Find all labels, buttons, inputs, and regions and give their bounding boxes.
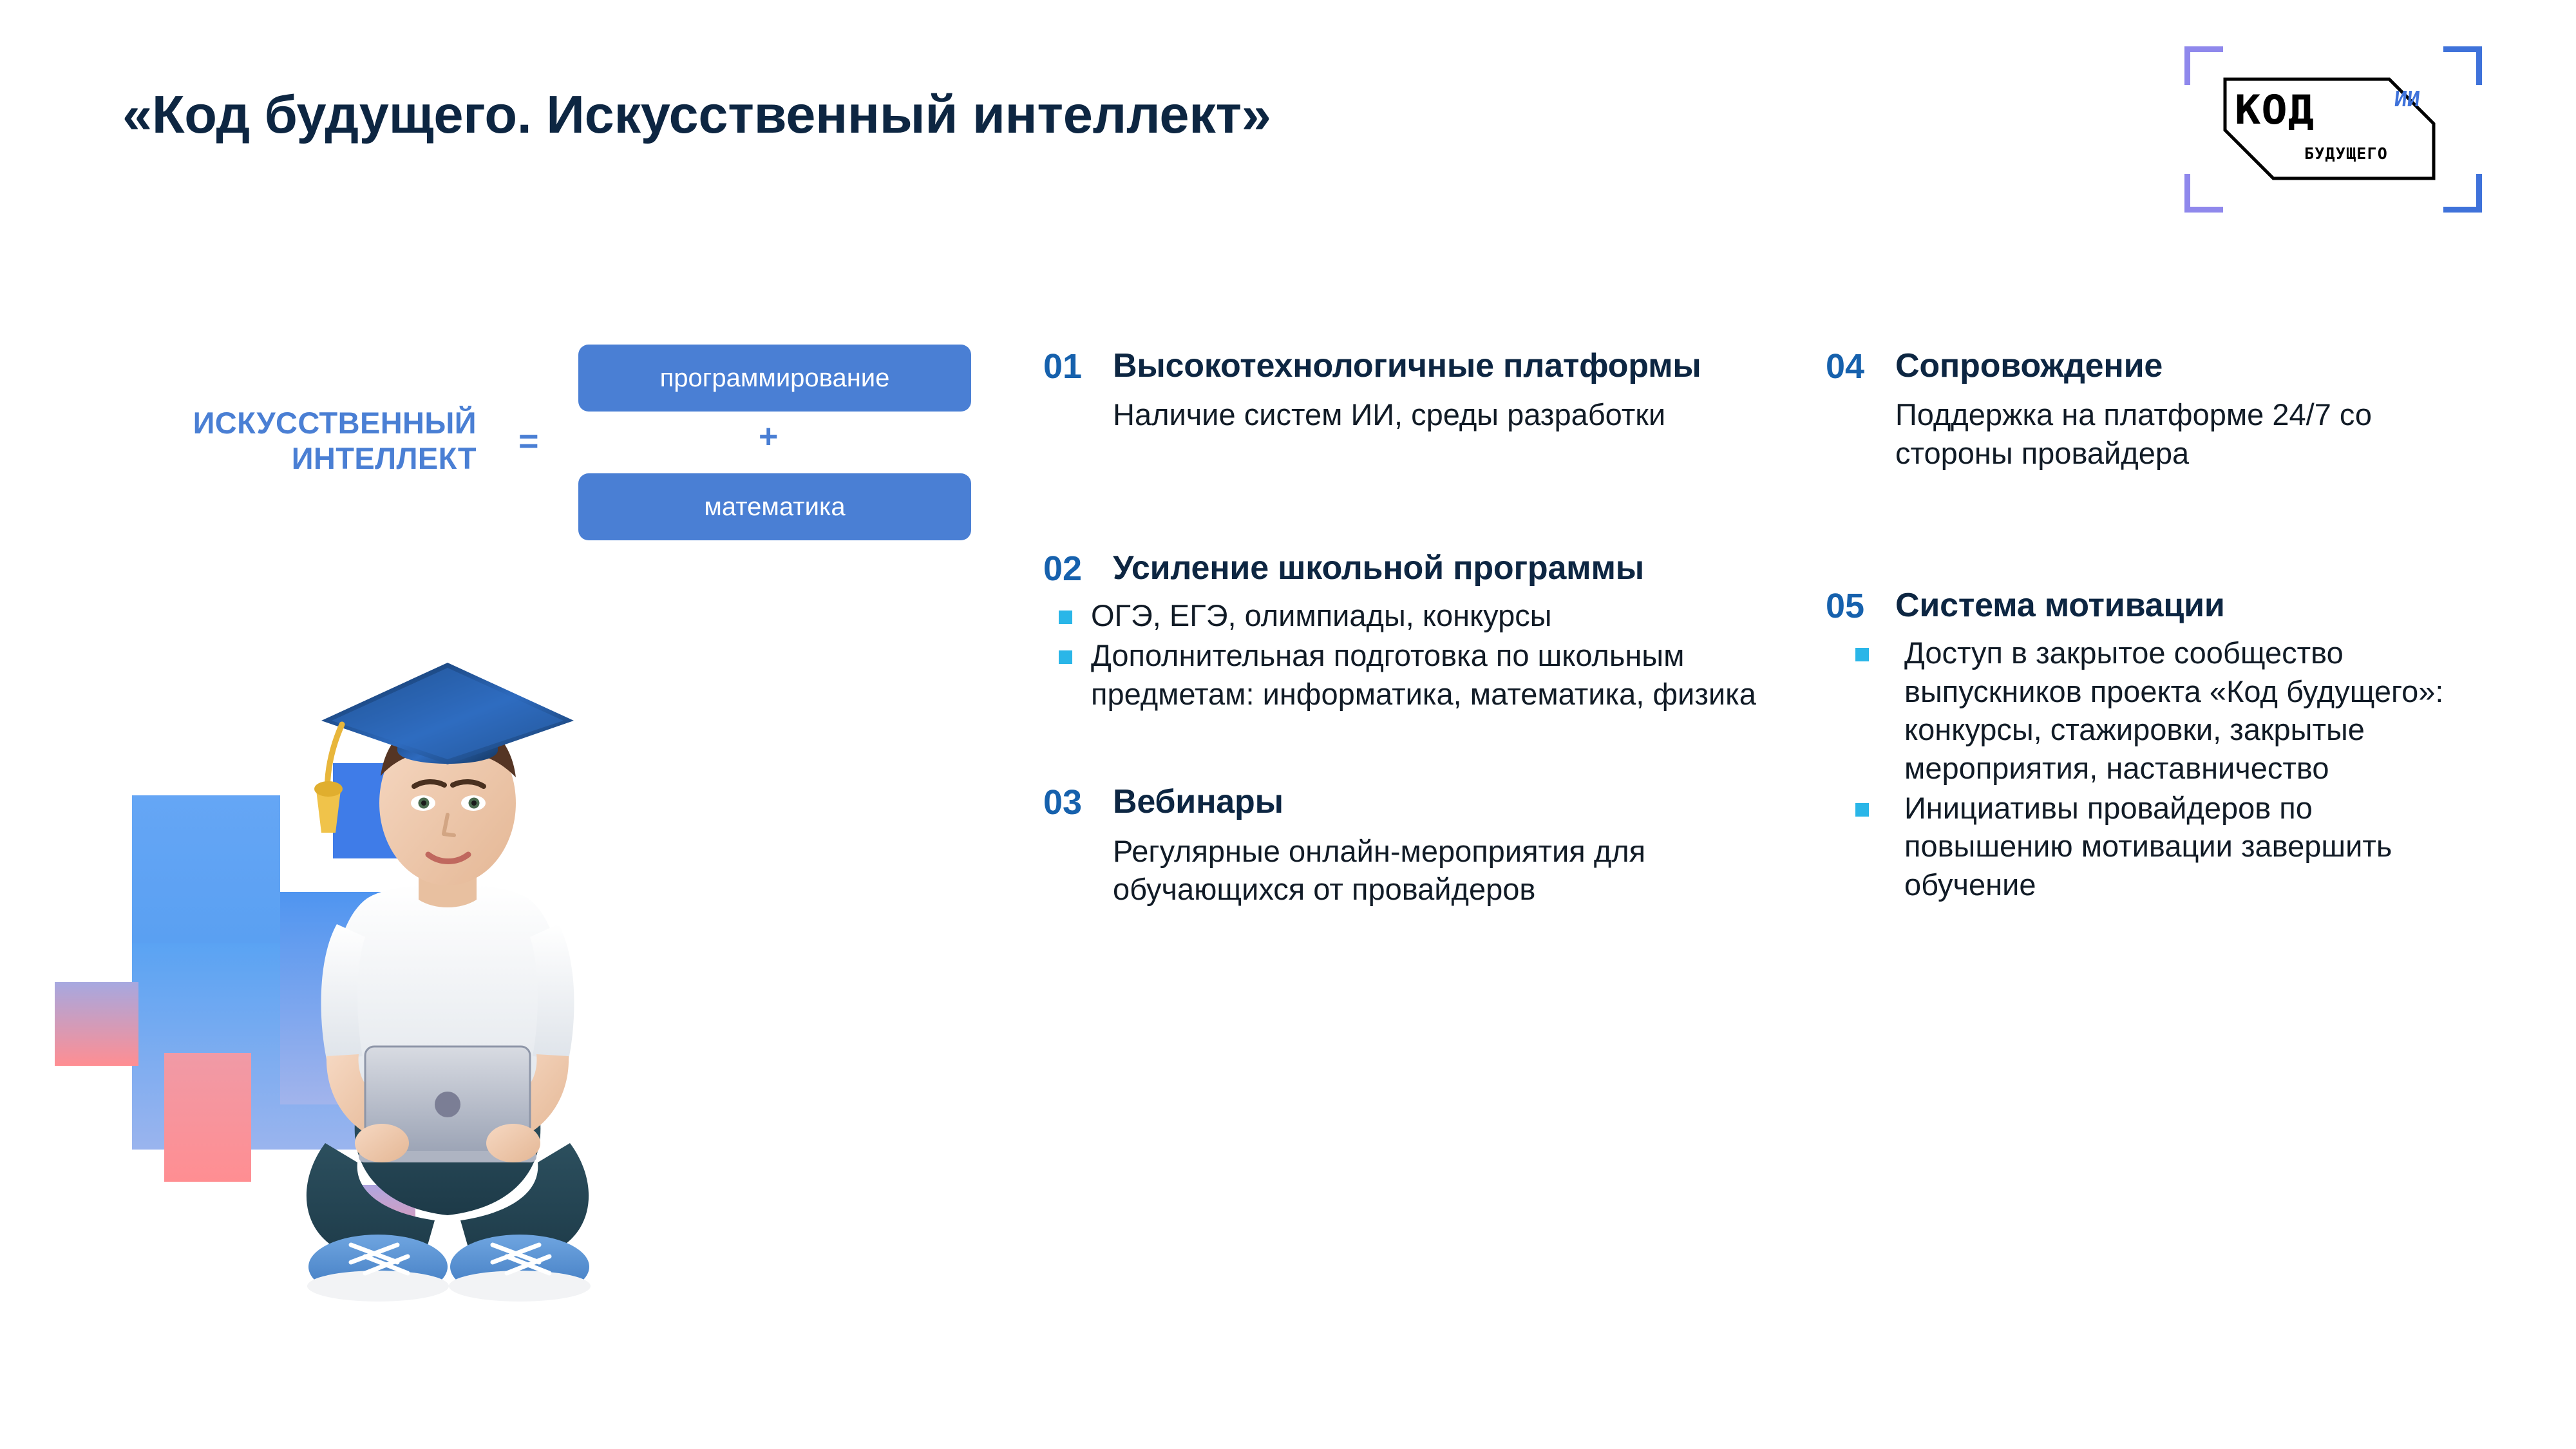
feature-number: 04 xyxy=(1826,348,1895,385)
logo-word-budushchego: БУДУЩЕГО xyxy=(2304,144,2388,163)
feature-title: Высокотехнологичные платформы xyxy=(1113,348,1701,384)
logo-bracket-bottom-left-icon xyxy=(2184,174,2223,213)
logo-kod-budushchego: КОД БУДУЩЕГО ИИ xyxy=(2184,46,2482,213)
feature-item-02: 02Усиление школьной программыОГЭ, ЕГЭ, о… xyxy=(1043,550,1765,713)
ai-equation-label-line1: ИСКУССТВЕННЫЙ xyxy=(193,406,477,440)
feature-title: Вебинары xyxy=(1113,784,1283,820)
feature-item-01: 01Высокотехнологичные платформыНаличие с… xyxy=(1043,348,1765,434)
feature-number: 03 xyxy=(1043,784,1113,821)
feature-header: 05Система мотивации xyxy=(1826,587,2476,625)
feature-item-03: 03ВебинарыРегулярные онлайн-мероприятия … xyxy=(1043,784,1765,909)
bullet-square-icon xyxy=(1855,803,1869,817)
list-item: Доступ в закрытое сообщество выпускников… xyxy=(1855,634,2476,788)
feature-number: 02 xyxy=(1043,550,1113,587)
feature-header: 02Усиление школьной программы xyxy=(1043,550,1765,587)
feature-body-text: Регулярные онлайн-мероприятия для обучаю… xyxy=(1113,832,1765,909)
feature-number: 01 xyxy=(1043,348,1113,385)
square-pink-left xyxy=(55,982,138,1066)
feature-column-right: 04СопровождениеПоддержка на платформе 24… xyxy=(1826,348,2476,905)
ai-equation-plus-sign: + xyxy=(759,417,778,456)
student-figure-icon xyxy=(229,654,667,1336)
feature-item-05: 05Система мотивацииДоступ в закрытое соо… xyxy=(1826,587,2476,904)
logo-badge-ii: ИИ xyxy=(2393,86,2421,111)
logo-bracket-top-right-icon xyxy=(2443,46,2482,85)
feature-bullet-list: ОГЭ, ЕГЭ, олимпиады, конкурсыДополнитель… xyxy=(1043,596,1765,713)
feature-header: 04Сопровождение xyxy=(1826,348,2476,385)
logo-bracket-top-left-icon xyxy=(2184,46,2223,85)
ai-equation-label: ИСКУССТВЕННЫЙ ИНТЕЛЛЕКТ xyxy=(97,406,477,476)
ai-equation-equals-sign: = xyxy=(518,421,539,461)
page-title: «Код будущего. Искусственный интеллект» xyxy=(122,84,1271,146)
ai-term-programming-box: программирование xyxy=(578,345,971,412)
feature-header: 01Высокотехнологичные платформы xyxy=(1043,348,1765,385)
student-illustration xyxy=(55,634,824,1343)
feature-bullet-list: Доступ в закрытое сообщество выпускников… xyxy=(1855,634,2476,904)
bullet-square-icon xyxy=(1855,648,1869,661)
feature-item-04: 04СопровождениеПоддержка на платформе 24… xyxy=(1826,348,2476,473)
ai-term-mathematics-box: математика xyxy=(578,473,971,540)
feature-title: Сопровождение xyxy=(1895,348,2163,384)
feature-body-text: Поддержка на платформе 24/7 со стороны п… xyxy=(1895,395,2476,472)
feature-number: 05 xyxy=(1826,587,1895,625)
logo-word-kod: КОД xyxy=(2235,86,2315,133)
feature-header: 03Вебинары xyxy=(1043,784,1765,821)
ai-equation-label-line2: ИНТЕЛЛЕКТ xyxy=(292,441,477,475)
bullet-square-icon xyxy=(1059,650,1072,664)
list-item: Инициативы провайдеров по повышению моти… xyxy=(1855,789,2476,904)
feature-title: Усиление школьной программы xyxy=(1113,550,1644,587)
feature-title: Система мотивации xyxy=(1895,587,2225,624)
logo-bracket-bottom-right-icon xyxy=(2443,174,2482,213)
list-item: ОГЭ, ЕГЭ, олимпиады, конкурсы xyxy=(1043,596,1765,635)
feature-column-middle: 01Высокотехнологичные платформыНаличие с… xyxy=(1043,348,1765,909)
feature-body-text: Наличие систем ИИ, среды разработки xyxy=(1113,395,1765,434)
list-item: Дополнительная подготовка по школьным пр… xyxy=(1043,636,1765,713)
bullet-square-icon xyxy=(1059,611,1072,624)
